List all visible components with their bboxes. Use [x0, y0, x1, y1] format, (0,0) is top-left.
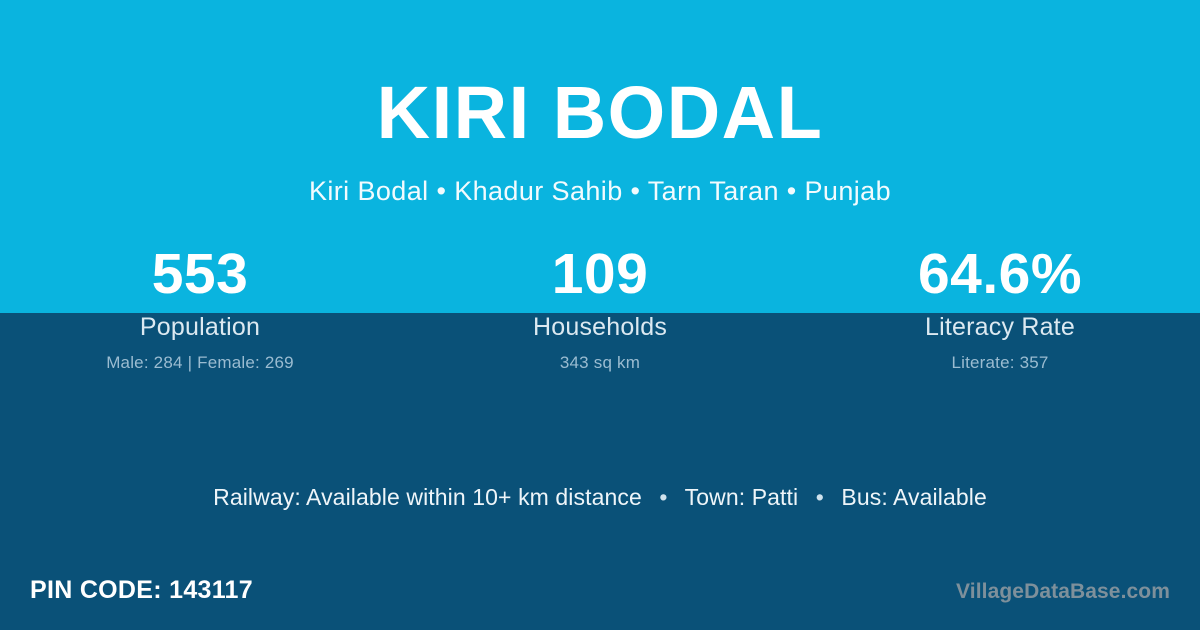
stats-row: 553 Population Male: 284 | Female: 269 1… [0, 243, 1200, 372]
stat-population-value: 553 [152, 243, 249, 305]
stat-households-detail: 343 sq km [560, 354, 640, 373]
amenities-row: Railway: Available within 10+ km distanc… [0, 484, 1200, 511]
title-block: KIRI BODAL Kiri Bodal • Khadur Sahib • T… [0, 0, 1200, 240]
breadcrumb: Kiri Bodal • Khadur Sahib • Tarn Taran •… [309, 176, 891, 207]
amenity-town: Town: Patti [685, 484, 799, 510]
stat-literacy-rate-detail: Literate: 357 [951, 354, 1048, 373]
stat-households: 109 Households 343 sq km [400, 243, 800, 372]
brand-watermark: VillageDataBase.com [956, 580, 1170, 604]
amenity-separator-2: • [805, 484, 835, 511]
stat-population-label: Population [140, 314, 260, 342]
stat-literacy-rate-value: 64.6% [918, 243, 1082, 305]
village-info-card: KIRI BODAL Kiri Bodal • Khadur Sahib • T… [0, 0, 1200, 630]
page-title: KIRI BODAL [377, 76, 824, 150]
pin-code: PIN CODE: 143117 [30, 576, 253, 605]
stat-households-label: Households [533, 314, 667, 342]
stat-literacy-rate: 64.6% Literacy Rate Literate: 357 [800, 243, 1200, 372]
amenity-bus: Bus: Available [841, 484, 986, 510]
stat-households-value: 109 [552, 243, 649, 305]
stat-literacy-rate-label: Literacy Rate [925, 314, 1075, 342]
amenity-separator-1: • [648, 484, 678, 511]
stat-population: 553 Population Male: 284 | Female: 269 [0, 243, 400, 372]
stat-population-detail: Male: 284 | Female: 269 [106, 354, 294, 373]
amenity-railway: Railway: Available within 10+ km distanc… [213, 484, 642, 510]
